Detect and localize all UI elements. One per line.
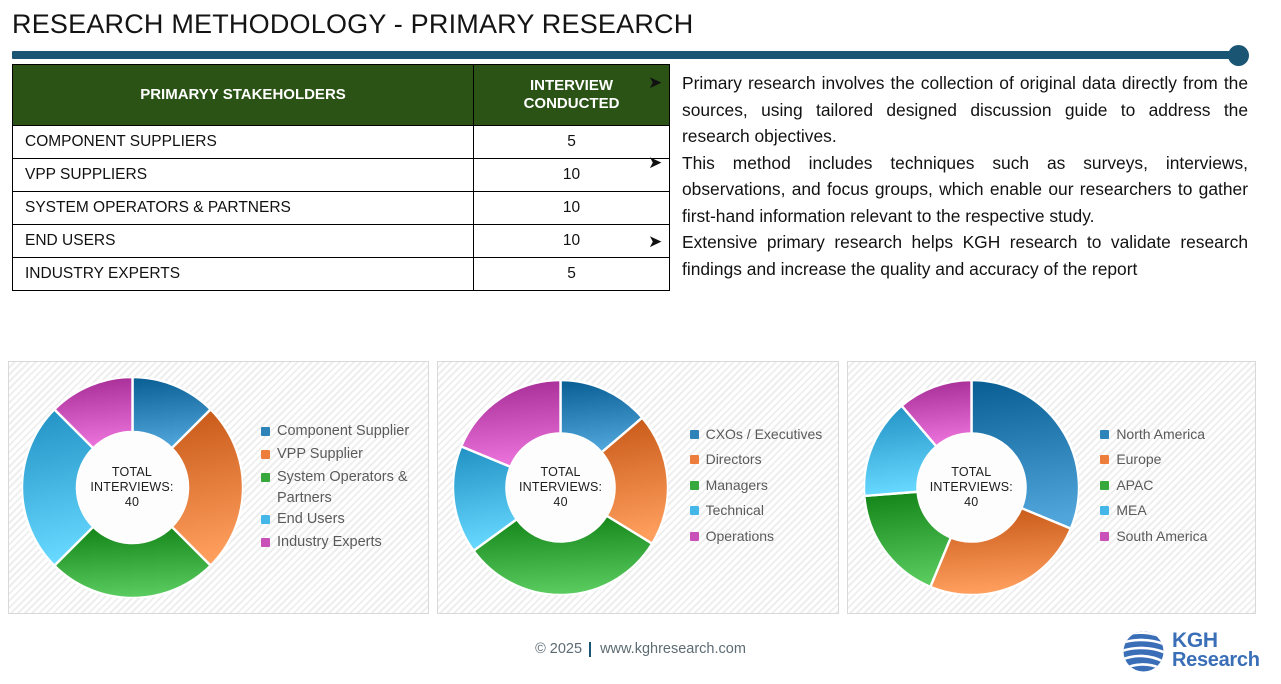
cell-interviews: 10 [474, 192, 670, 225]
legend-swatch [1100, 506, 1109, 515]
stakeholders-table: PRIMARYY STAKEHOLDERS INTERVIEW CONDUCTE… [12, 64, 670, 291]
cell-stakeholder: COMPONENT SUPPLIERS [13, 126, 474, 159]
legend-swatch [690, 481, 699, 490]
chart-legend: North AmericaEuropeAPACMEASouth America [1094, 424, 1255, 552]
table-header-row: PRIMARYY STAKEHOLDERS INTERVIEW CONDUCTE… [13, 65, 670, 126]
logo-line-1: KGH [1172, 631, 1260, 652]
donut-center-label: TOTAL INTERVIEWS: 40 [507, 434, 614, 541]
legend-label: Industry Experts [277, 532, 382, 553]
center-line-1: TOTAL [951, 465, 991, 480]
center-line-2: INTERVIEWS: [519, 480, 602, 495]
charts-row: TOTAL INTERVIEWS: 40 Component SupplierV… [8, 361, 1256, 614]
accent-rule [12, 51, 1240, 59]
arrow-bullet-icon: ➤ [648, 70, 682, 97]
page-title: RESEARCH METHODOLOGY - PRIMARY RESEARCH [12, 9, 693, 40]
cell-stakeholder: VPP SUPPLIERS [13, 159, 474, 192]
donut-wrap: TOTAL INTERVIEWS: 40 [438, 361, 684, 614]
donut-chart-panel-regions: TOTAL INTERVIEWS: 40 North AmericaEurope… [847, 361, 1256, 614]
cell-interviews: 5 [474, 258, 670, 291]
list-item: ➤ This method includes techniques such a… [648, 150, 1248, 230]
table-row: SYSTEM OPERATORS & PARTNERS 10 [13, 192, 670, 225]
legend-item[interactable]: Technical [690, 500, 839, 526]
legend-label: End Users [277, 509, 345, 530]
table-row: INDUSTRY EXPERTS 5 [13, 258, 670, 291]
legend-swatch [261, 473, 270, 482]
cell-interviews: 10 [474, 225, 670, 258]
cell-stakeholder: END USERS [13, 225, 474, 258]
legend-label: APAC [1116, 475, 1153, 496]
footer: © 2025 www.kghresearch.com [0, 640, 1281, 658]
legend-item[interactable]: Managers [690, 475, 839, 501]
legend-swatch [1100, 455, 1109, 464]
column-header-interviews: INTERVIEW CONDUCTED [474, 65, 670, 126]
donut-chart: TOTAL INTERVIEWS: 40 [22, 377, 243, 598]
center-line-1: TOTAL [112, 465, 152, 480]
legend-swatch [690, 455, 699, 464]
legend-swatch [690, 532, 699, 541]
legend-label: Directors [706, 449, 762, 470]
donut-center-label: TOTAL INTERVIEWS: 40 [918, 434, 1025, 541]
list-item: ➤ Extensive primary research helps KGH r… [648, 229, 1248, 282]
legend-swatch [1100, 532, 1109, 541]
center-line-1: TOTAL [541, 465, 581, 480]
cell-interviews: 10 [474, 159, 670, 192]
legend-item[interactable]: Component Supplier [261, 421, 428, 444]
legend-item[interactable]: MEA [1100, 500, 1255, 526]
donut-wrap: TOTAL INTERVIEWS: 40 [9, 361, 255, 614]
kgh-research-logo: KGH Research [1120, 625, 1272, 677]
bullet-text: Primary research involves the collection… [682, 70, 1248, 150]
legend-item[interactable]: APAC [1100, 475, 1255, 501]
globe-icon [1120, 628, 1167, 675]
bullet-list: ➤ Primary research involves the collecti… [648, 70, 1248, 282]
legend-label: Technical [706, 500, 764, 521]
legend-item[interactable]: VPP Supplier [261, 444, 428, 467]
bullet-text: Extensive primary research helps KGH res… [682, 229, 1248, 282]
legend-swatch [690, 430, 699, 439]
arrow-bullet-icon: ➤ [648, 229, 682, 256]
arrow-bullet-icon: ➤ [648, 150, 682, 177]
cell-stakeholder: SYSTEM OPERATORS & PARTNERS [13, 192, 474, 225]
legend-label: MEA [1116, 500, 1146, 521]
center-line-3: 40 [125, 495, 139, 510]
legend-label: Operations [706, 526, 774, 547]
table-row: VPP SUPPLIERS 10 [13, 159, 670, 192]
bullet-text: This method includes techniques such as … [682, 150, 1248, 230]
legend-item[interactable]: System Operators & Partners [261, 467, 428, 509]
footer-divider [589, 642, 591, 657]
donut-center-label: TOTAL INTERVIEWS: 40 [77, 432, 188, 543]
legend-label: Europe [1116, 449, 1161, 470]
legend-label: Component Supplier [277, 421, 409, 442]
logo-text: KGH Research [1172, 631, 1260, 671]
table-body: COMPONENT SUPPLIERS 5 VPP SUPPLIERS 10 S… [13, 126, 670, 291]
chart-legend: Component SupplierVPP SupplierSystem Ope… [255, 421, 428, 555]
center-line-3: 40 [964, 495, 978, 510]
center-line-2: INTERVIEWS: [930, 480, 1013, 495]
legend-item[interactable]: End Users [261, 509, 428, 532]
footer-inner: © 2025 www.kghresearch.com [535, 641, 746, 657]
center-line-2: INTERVIEWS: [90, 480, 173, 495]
legend-label: VPP Supplier [277, 444, 363, 465]
copyright-text: © 2025 [535, 641, 582, 657]
chart-legend: CXOs / ExecutivesDirectorsManagersTechni… [684, 424, 839, 552]
legend-swatch [261, 450, 270, 459]
legend-swatch [261, 515, 270, 524]
legend-item[interactable]: Directors [690, 449, 839, 475]
legend-label: CXOs / Executives [706, 424, 823, 445]
donut-chart-panel-roles: TOTAL INTERVIEWS: 40 CXOs / ExecutivesDi… [437, 361, 840, 614]
website-link[interactable]: www.kghresearch.com [600, 641, 746, 657]
donut-chart: TOTAL INTERVIEWS: 40 [864, 380, 1079, 595]
legend-label: System Operators & Partners [277, 467, 428, 509]
legend-item[interactable]: North America [1100, 424, 1255, 450]
legend-item[interactable]: Industry Experts [261, 532, 428, 555]
legend-swatch [1100, 430, 1109, 439]
donut-wrap: TOTAL INTERVIEWS: 40 [848, 361, 1094, 614]
legend-label: South America [1116, 526, 1207, 547]
list-item: ➤ Primary research involves the collecti… [648, 70, 1248, 150]
legend-item[interactable]: Operations [690, 526, 839, 552]
legend-swatch [1100, 481, 1109, 490]
donut-chart-panel-stakeholders: TOTAL INTERVIEWS: 40 Component SupplierV… [8, 361, 429, 614]
cell-interviews: 5 [474, 126, 670, 159]
column-header-stakeholders: PRIMARYY STAKEHOLDERS [13, 65, 474, 126]
center-line-3: 40 [553, 495, 567, 510]
donut-chart: TOTAL INTERVIEWS: 40 [453, 380, 668, 595]
legend-label: North America [1116, 424, 1205, 445]
legend-item[interactable]: Europe [1100, 449, 1255, 475]
cell-stakeholder: INDUSTRY EXPERTS [13, 258, 474, 291]
legend-label: Managers [706, 475, 768, 496]
table-row: END USERS 10 [13, 225, 670, 258]
legend-swatch [261, 538, 270, 547]
legend-item[interactable]: CXOs / Executives [690, 424, 839, 450]
legend-swatch [690, 506, 699, 515]
legend-item[interactable]: South America [1100, 526, 1255, 552]
logo-line-2: Research [1172, 651, 1260, 671]
accent-dot-icon [1228, 45, 1249, 66]
table-row: COMPONENT SUPPLIERS 5 [13, 126, 670, 159]
legend-swatch [261, 427, 270, 436]
